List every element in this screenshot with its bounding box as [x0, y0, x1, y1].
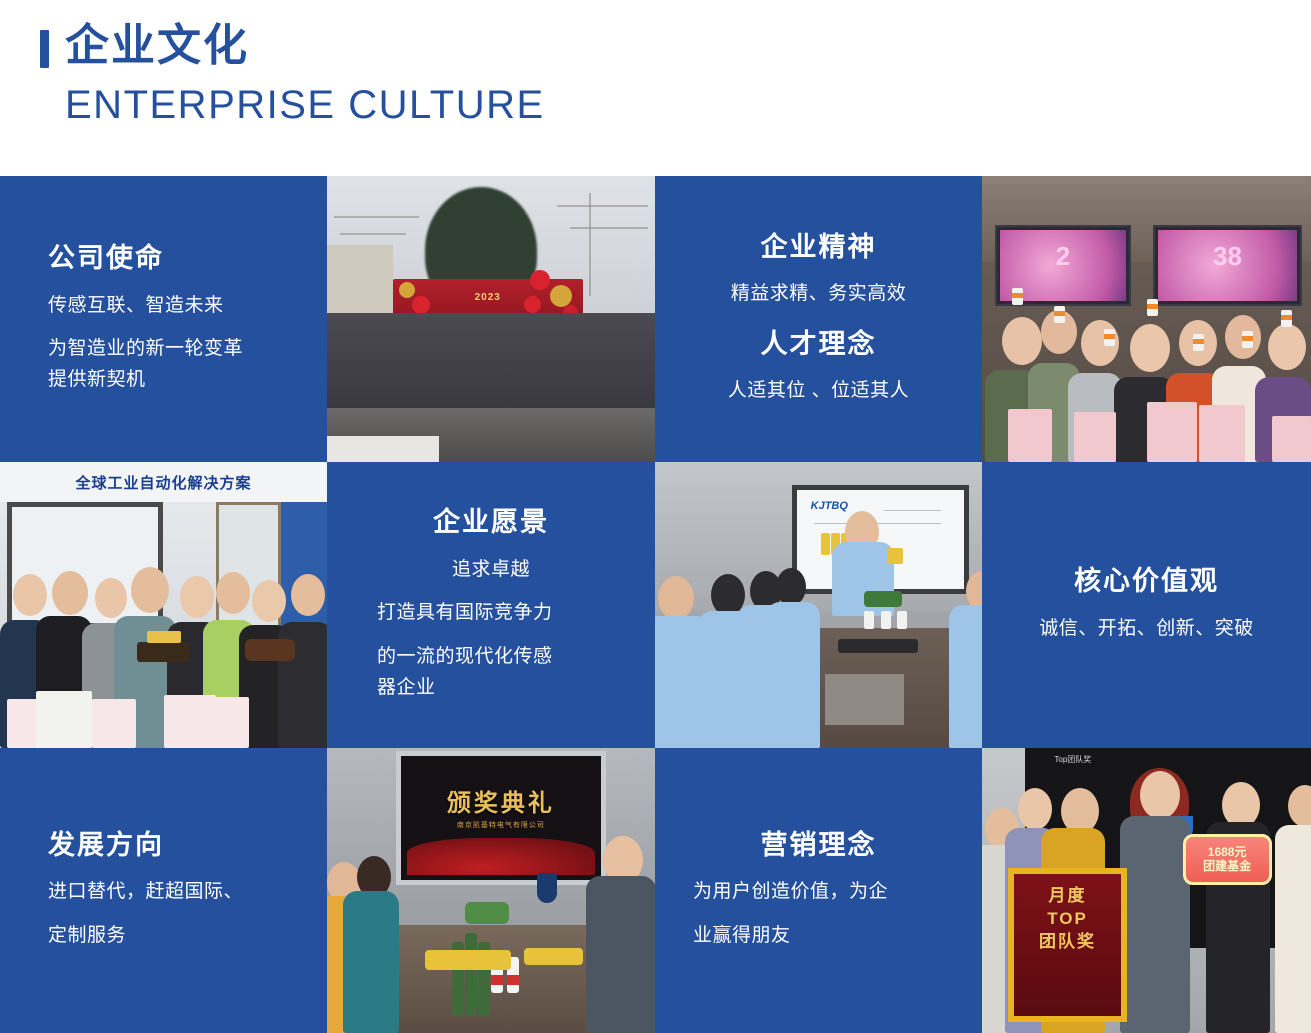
- photo-canvas: 全球工业自动化解决方案: [0, 462, 327, 748]
- card-line: 进口替代，赶超国际、: [48, 877, 243, 908]
- accent-bar-icon: [40, 30, 49, 68]
- card-heading: 核心价值观: [1074, 565, 1219, 597]
- culture-grid: 公司使命 传感互联、智造未来 为智造业的新一轮变革 提供新契机 2023: [0, 176, 1311, 1033]
- card-line: 传感互联、智造未来: [48, 291, 224, 322]
- photo-birthday-celebration: 全球工业自动化解决方案: [0, 462, 327, 748]
- wall-banner: 全球工业自动化解决方案: [0, 462, 327, 502]
- screen-subtitle: 南京凯基特电气有限公司: [401, 820, 601, 830]
- screen-text: 2: [997, 241, 1129, 272]
- card-line: 追求卓越: [452, 555, 530, 586]
- card-line: 器企业: [355, 673, 436, 704]
- card-line: 精益求精、务实高效: [731, 279, 907, 310]
- card-heading: 企业精神: [761, 231, 877, 263]
- page-header: 企业文化 ENTERPRISE CULTURE: [0, 0, 1311, 176]
- photo-group-annual-meeting: 2023: [327, 176, 655, 462]
- card-line: 为智造业的新一轮变革: [48, 334, 243, 365]
- card-line: 打造具有国际竞争力: [355, 598, 553, 629]
- card-line: 业赢得朋友: [683, 921, 791, 952]
- award-flag-text: 月度TOP团队奖: [1014, 885, 1120, 954]
- card-line: 的一流的现代化传感: [355, 642, 553, 673]
- culture-card-mission[interactable]: 公司使命 传感互联、智造未来 为智造业的新一轮变革 提供新契机: [0, 176, 327, 462]
- card-heading: 营销理念: [761, 829, 877, 861]
- screen-text: 38: [1155, 241, 1300, 272]
- wall-banner-text: 全球工业自动化解决方案: [75, 472, 251, 493]
- card-heading: 公司使命: [48, 242, 164, 274]
- culture-card-marketing[interactable]: 营销理念 为用户创造价值，为企 业赢得朋友: [655, 748, 982, 1033]
- photo-canvas: Top团队奖 月度TOP团队奖 1688元团建基金: [982, 748, 1311, 1033]
- photo-canvas: KJTBQ: [655, 462, 982, 748]
- page-title-cn: 企业文化: [65, 22, 249, 70]
- bonus-sign-text: 1688元团建基金: [1203, 845, 1251, 874]
- photo-womens-day: 2 38: [982, 176, 1311, 462]
- photo-canvas: 2 38: [982, 176, 1311, 462]
- screen-logo: KJTBQ: [811, 500, 848, 512]
- header-title-row: 企业文化: [40, 22, 1311, 70]
- card-line: 人适其位 、位适其人: [728, 376, 909, 407]
- screen-title: 颁奖典礼: [401, 783, 601, 818]
- card-line: 提供新契机: [48, 365, 146, 396]
- culture-card-core-values[interactable]: 核心价值观 诚信、开拓、创新、突破: [982, 462, 1311, 748]
- screen-label: Top团队奖: [1054, 754, 1091, 765]
- card-heading: 发展方向: [48, 829, 164, 861]
- culture-card-vision[interactable]: 企业愿景 追求卓越 打造具有国际竞争力 的一流的现代化传感 器企业: [327, 462, 655, 748]
- photo-canvas: 2023: [327, 176, 655, 462]
- card-line: 定制服务: [48, 921, 126, 952]
- award-flag: 月度TOP团队奖: [1008, 868, 1126, 1022]
- culture-card-development[interactable]: 发展方向 进口替代，赶超国际、 定制服务: [0, 748, 327, 1033]
- culture-card-spirit-talent[interactable]: 企业精神 精益求精、务实高效 人才理念 人适其位 、位适其人: [655, 176, 982, 462]
- card-line: 为用户创造价值，为企: [683, 877, 888, 908]
- photo-top-team-award: Top团队奖 月度TOP团队奖 1688元团建基金: [982, 748, 1311, 1033]
- card-line: 诚信、开拓、创新、突破: [1039, 614, 1254, 645]
- card-heading: 企业愿景: [433, 506, 549, 538]
- photo-product-training: KJTBQ: [655, 462, 982, 748]
- page-title-en: ENTERPRISE CULTURE: [65, 84, 1311, 126]
- bonus-sign: 1688元团建基金: [1183, 834, 1272, 885]
- card-heading-secondary: 人才理念: [761, 328, 877, 360]
- photo-canvas: 颁奖典礼 南京凯基特电气有限公司: [327, 748, 655, 1033]
- photo-award-ceremony: 颁奖典礼 南京凯基特电气有限公司: [327, 748, 655, 1033]
